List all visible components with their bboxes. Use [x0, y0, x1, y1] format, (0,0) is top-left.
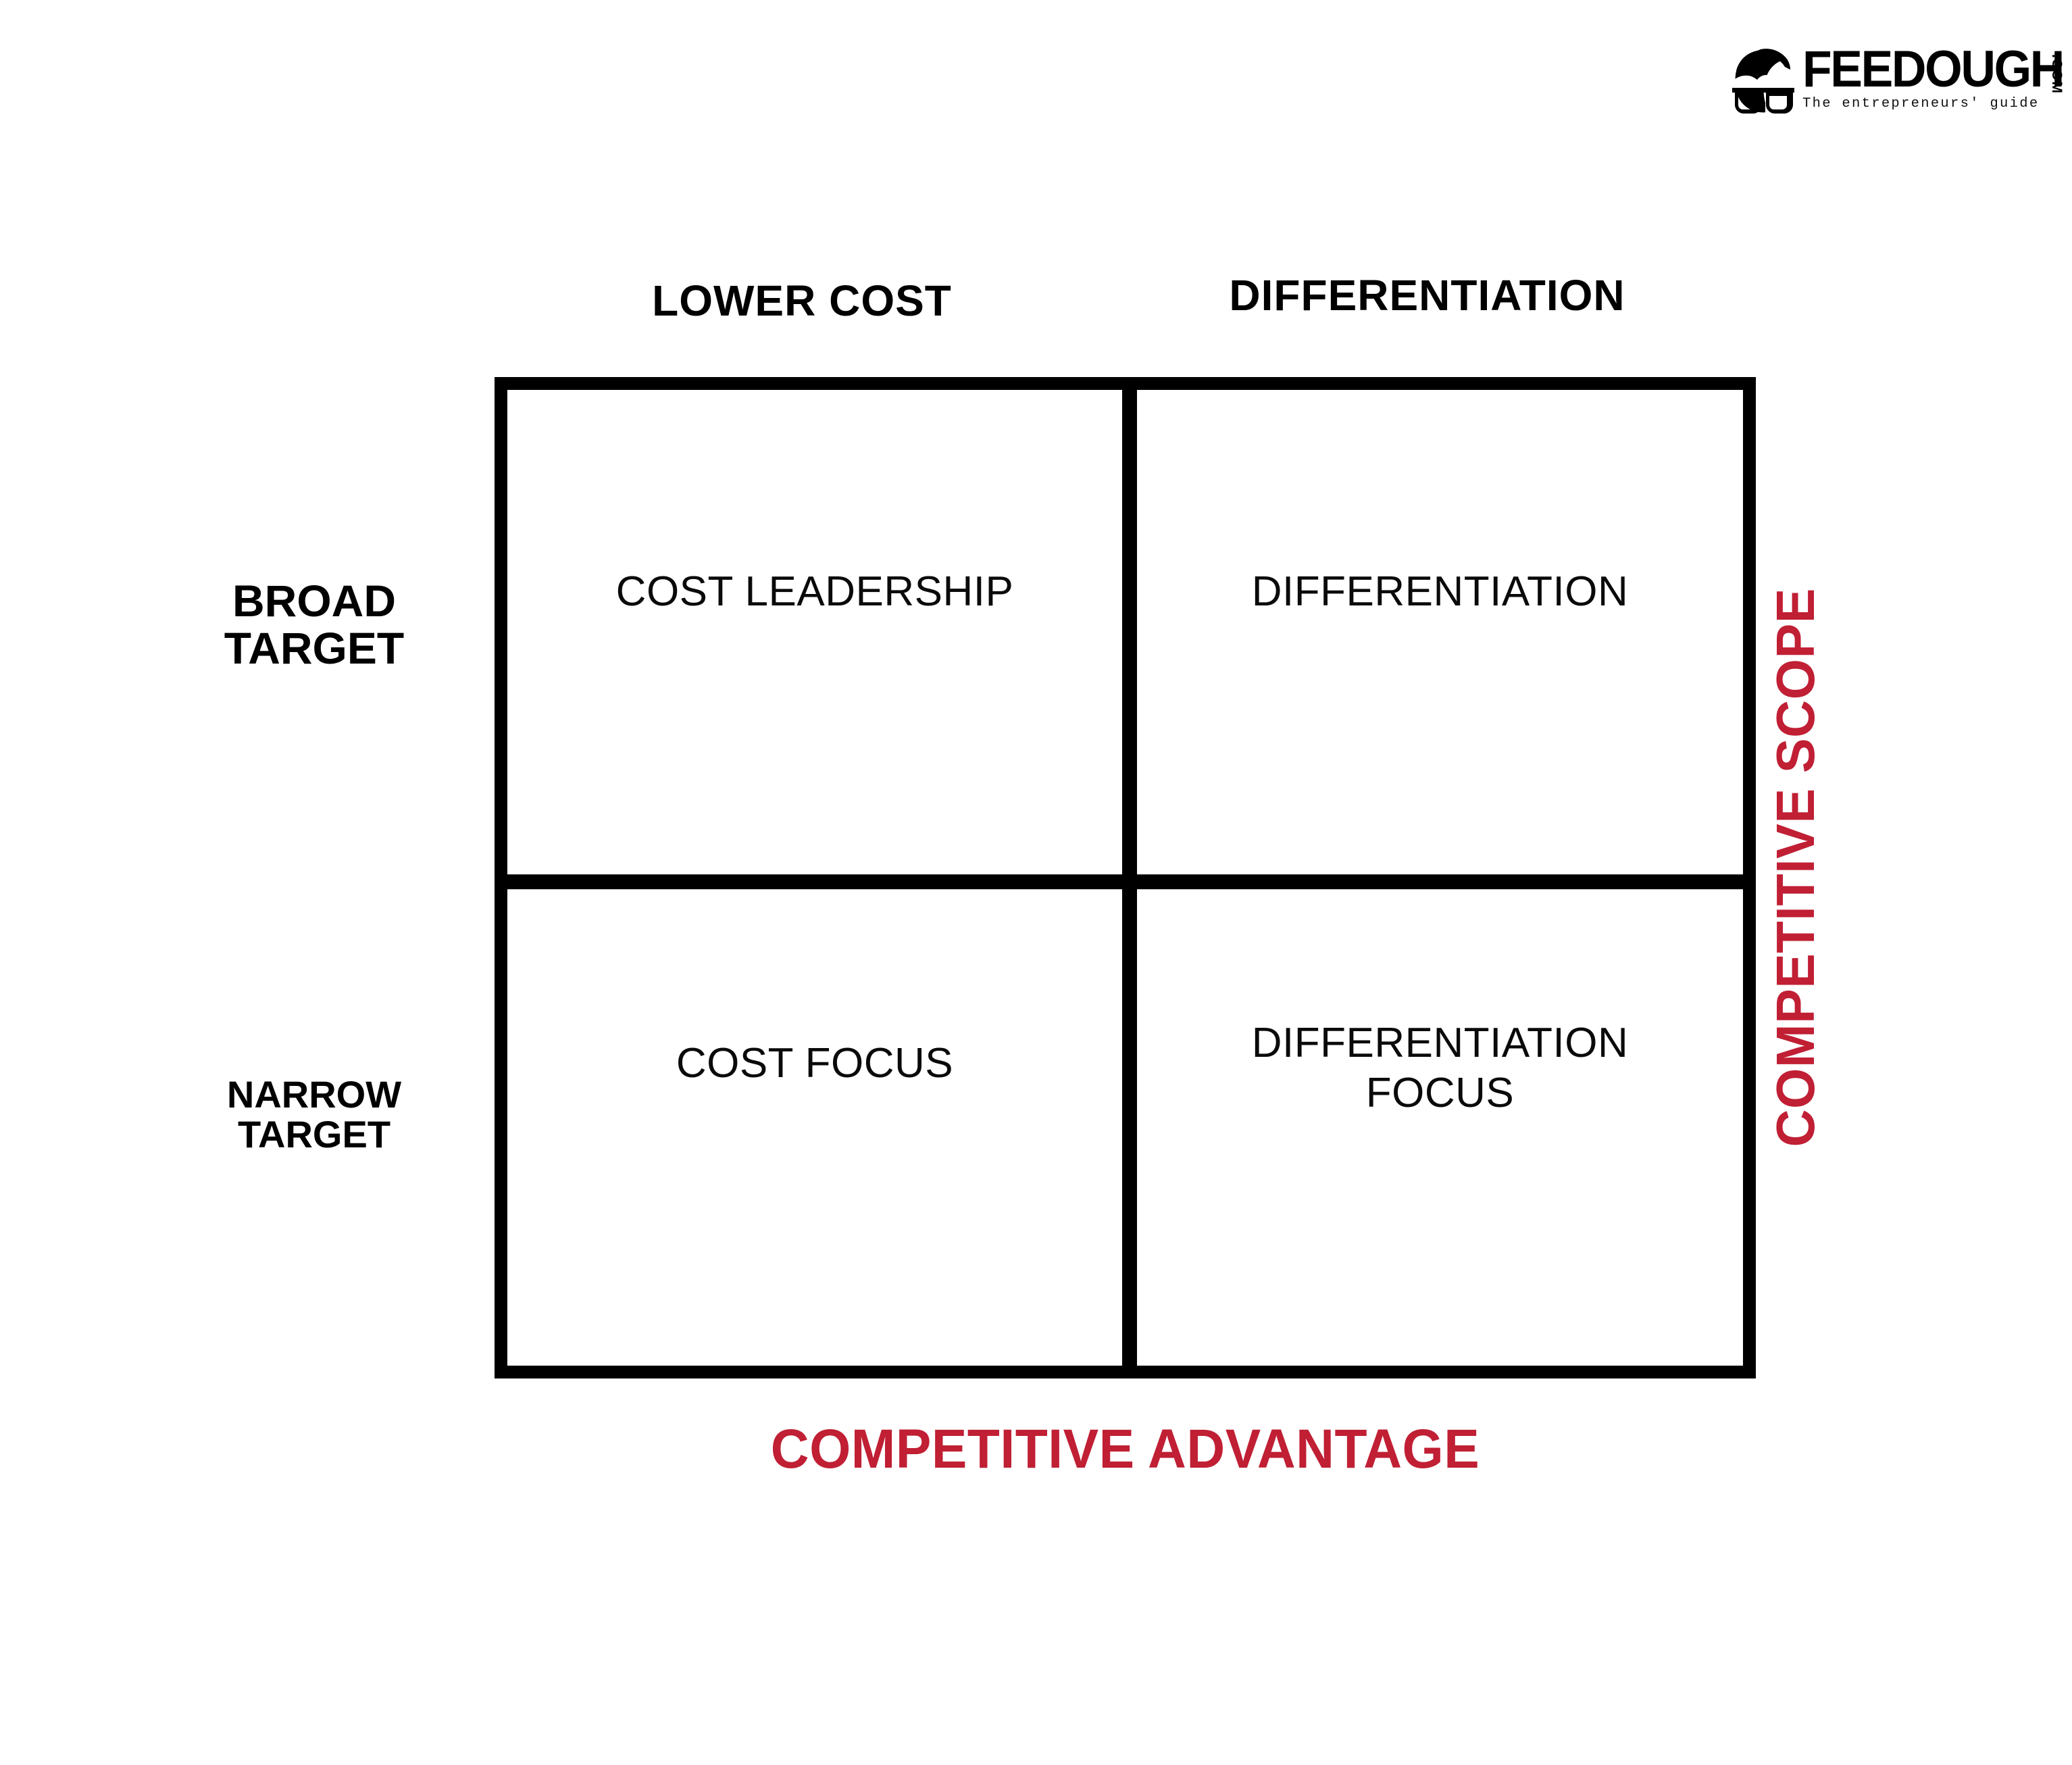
- row-label-narrow-target: NARROW TARGET: [166, 1074, 463, 1155]
- matrix-horizontal-divider: [507, 874, 1743, 889]
- row-label-broad-line1: BROAD TARGET: [166, 578, 463, 672]
- matrix-cell-differentiation-focus[interactable]: DIFFERENTIATION FOCUS: [1137, 889, 1743, 1366]
- logo-tagline: The entrepreneurs' guide: [1802, 96, 2072, 111]
- matrix-cell-differentiation[interactable]: DIFFERENTIATION: [1137, 390, 1743, 874]
- matrix-cell-differentiation-label: DIFFERENTIATION: [1252, 567, 1628, 616]
- column-header-lower-cost: LOWER COST: [495, 276, 1109, 326]
- matrix-cell-cost-focus-label: COST FOCUS: [676, 1039, 953, 1088]
- matrix-cell-differentiation-focus-label: DIFFERENTIATION FOCUS: [1252, 1018, 1628, 1117]
- matrix-cell-cost-focus[interactable]: COST FOCUS: [507, 889, 1122, 1366]
- column-header-differentiation: DIFFERENTIATION: [1124, 270, 1730, 320]
- x-axis-title-competitive-advantage: COMPETITIVE ADVANTAGE: [520, 1418, 1730, 1481]
- logo-domain-suffix: .COM: [2048, 54, 2065, 94]
- y-axis-title-competitive-scope: COMPETITIVE SCOPE: [1765, 0, 1839, 514]
- row-label-narrow-line1: NARROW TARGET: [166, 1074, 463, 1155]
- matrix-cell-cost-leadership[interactable]: COST LEADERSHIP: [507, 390, 1122, 874]
- strategy-matrix: COST LEADERSHIP DIFFERENTIATION COST FOC…: [495, 377, 1756, 1378]
- row-label-broad-target: BROAD TARGET: [166, 578, 463, 672]
- y-axis-title-text: COMPETITIVE SCOPE: [1765, 514, 1827, 1222]
- matrix-cell-cost-leadership-label: COST LEADERSHIP: [616, 567, 1014, 616]
- logo-wordmark: FEEDOUGH: [1802, 49, 2063, 91]
